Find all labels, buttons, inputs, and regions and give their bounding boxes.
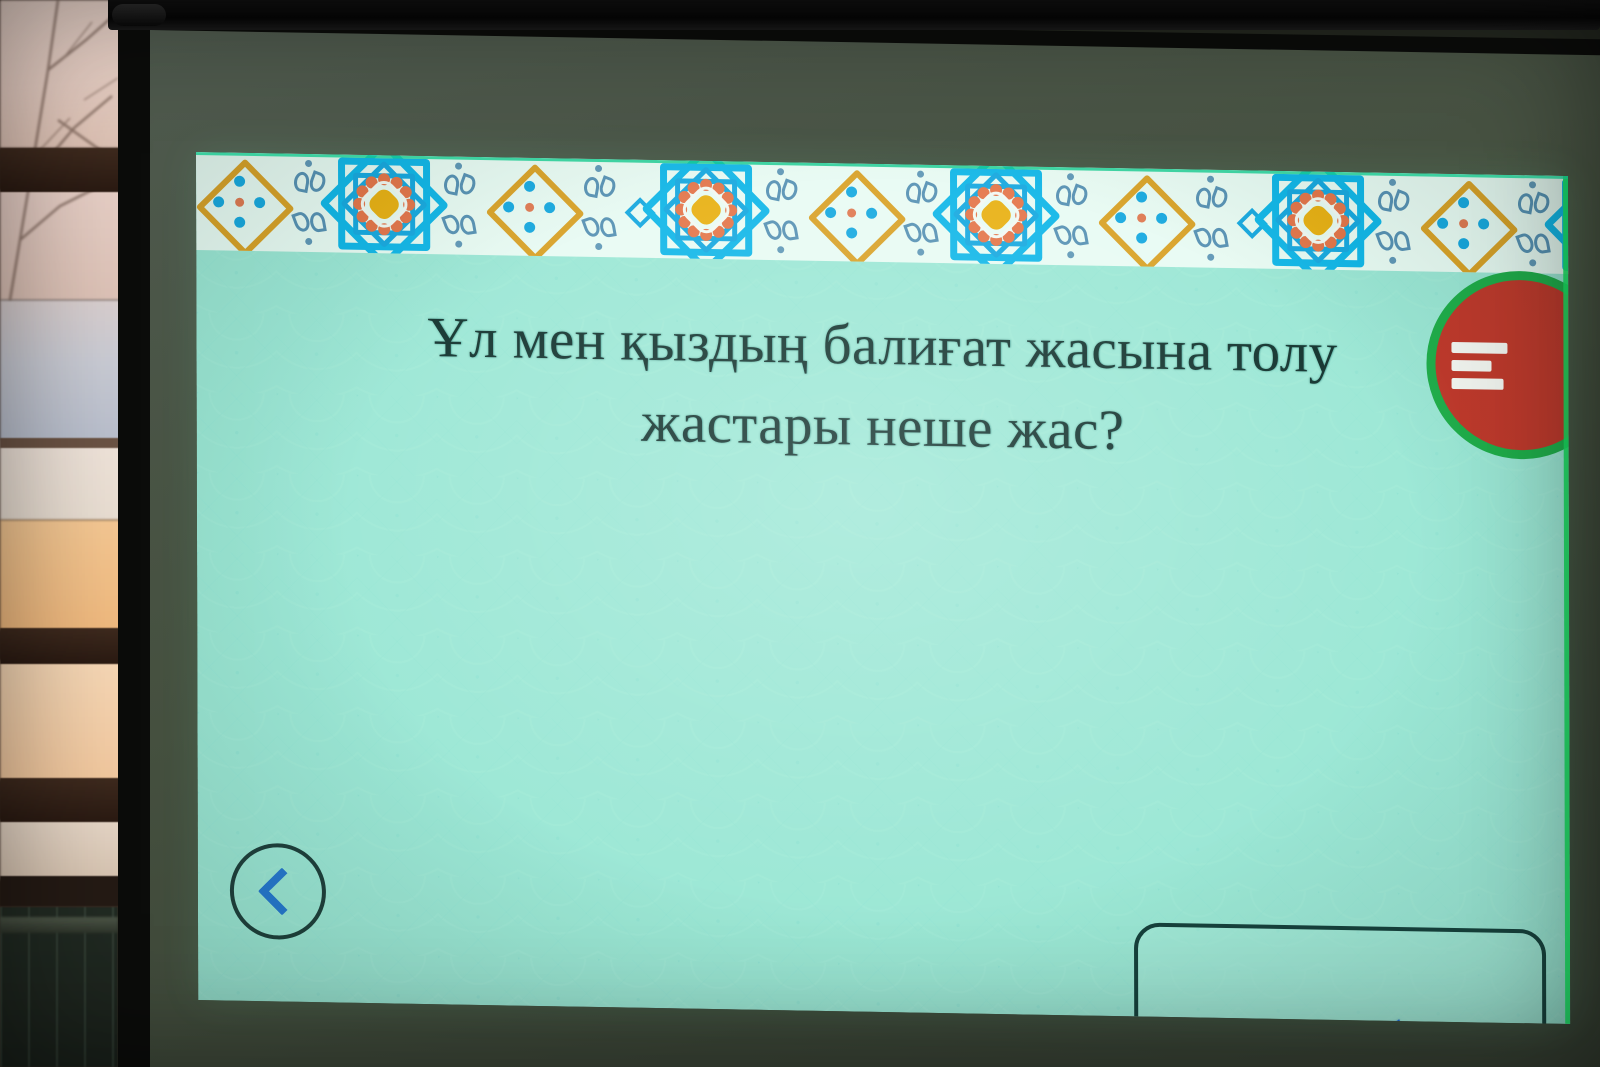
flourish-mark — [292, 171, 310, 193]
flourish-dot — [1389, 257, 1396, 264]
ornament-flourish — [1372, 173, 1414, 272]
flourish-mark — [1069, 183, 1090, 207]
flourish-dot — [1067, 251, 1074, 258]
slide-canvas: Ұл мен қыздың балиғат жасына толу жастар… — [196, 152, 1570, 1024]
ornament-star-motif — [1264, 171, 1372, 271]
flourish-mark — [764, 179, 782, 201]
ornament-flourish — [438, 156, 480, 255]
diamond-dot — [846, 227, 857, 238]
ornament-flourish — [760, 162, 802, 261]
ornament-flourish — [1050, 167, 1092, 266]
flourish-mark — [1531, 191, 1552, 215]
diamond-dot — [1458, 238, 1469, 249]
chevron-left-icon — [258, 867, 306, 915]
ornament-flourish — [1190, 169, 1232, 268]
ornament-star-motif — [942, 165, 1050, 265]
slide-background-pattern — [196, 152, 1570, 1024]
flourish-dot — [1529, 259, 1536, 266]
diamond-dot — [213, 196, 224, 207]
answer-card[interactable]: Жауабы — [1134, 922, 1546, 1024]
flourish-mark — [459, 214, 477, 236]
star-core — [366, 186, 403, 223]
ornament-diamond-motif — [802, 163, 900, 263]
diamond-dot — [234, 176, 245, 187]
flourish-mark — [1393, 230, 1411, 252]
diamond-dot — [1137, 213, 1146, 222]
flourish-mark — [763, 218, 784, 242]
projected-slide: Ұл мен қыздың балиғат жасына толу жастар… — [196, 152, 1570, 1024]
flourish-mark — [1515, 231, 1536, 255]
diamond-dot — [1156, 212, 1167, 223]
flourish-dot — [595, 165, 602, 172]
ornament-diamond-motif — [196, 152, 288, 252]
diamond-dot — [1136, 191, 1147, 202]
flourish-dot — [1207, 176, 1214, 183]
flourish-dot — [917, 249, 924, 256]
diamond-dot — [234, 217, 245, 228]
diamond-dot — [1478, 218, 1489, 229]
diamond-dot — [524, 181, 535, 192]
ornament-star-motif — [652, 160, 760, 260]
flourish-dot — [595, 243, 602, 250]
flourish-mark — [291, 210, 312, 234]
flourish-mark — [779, 178, 800, 202]
diamond-dot — [847, 208, 856, 217]
radiator — [0, 907, 118, 1067]
flourish-mark — [921, 222, 939, 244]
flourish-dot — [305, 238, 312, 245]
diamond-dot — [254, 197, 265, 208]
diamond-dot — [544, 202, 555, 213]
flourish-mark — [1053, 223, 1074, 247]
roller-knob — [112, 4, 166, 26]
ornament-star-motif — [330, 154, 438, 254]
flourish-mark — [1391, 189, 1412, 213]
diamond-dot — [1136, 232, 1147, 243]
projector-screen-roller — [108, 0, 1600, 30]
back-button[interactable] — [230, 843, 326, 941]
flourish-mark — [1194, 186, 1212, 208]
diamond-dot — [825, 206, 836, 217]
diamond-dot — [524, 222, 535, 233]
diamond-dot — [235, 197, 244, 206]
flourish-mark — [597, 175, 618, 199]
flourish-dot — [777, 246, 784, 253]
flourish-mark — [919, 181, 940, 205]
flourish-mark — [1211, 227, 1229, 249]
flourish-mark — [599, 216, 617, 238]
flourish-dot — [455, 163, 462, 170]
flourish-mark — [581, 215, 602, 239]
diamond-dot — [503, 201, 514, 212]
flourish-mark — [1516, 192, 1534, 214]
star-core — [688, 192, 725, 229]
flourish-mark — [903, 221, 924, 245]
flourish-dot — [1529, 181, 1536, 188]
flourish-dot — [455, 241, 462, 248]
flourish-dot — [777, 168, 784, 175]
photo-scene: Ұл мен қыздың балиғат жасына толу жастар… — [0, 0, 1600, 1067]
flourish-dot — [1067, 173, 1074, 180]
flourish-mark — [1375, 229, 1396, 253]
diamond-dot — [1437, 217, 1448, 228]
slide-title: Ұл мен қыздың балиғат жасына толу жастар… — [196, 294, 1568, 480]
flourish-mark — [781, 219, 799, 241]
flourish-dot — [917, 171, 924, 178]
diamond-dot — [1115, 212, 1126, 223]
diamond-dot — [846, 186, 857, 197]
flourish-mark — [1533, 232, 1551, 254]
flourish-mark — [1193, 226, 1214, 250]
flourish-mark — [1376, 190, 1394, 212]
diamond-dot — [525, 202, 534, 211]
flourish-mark — [1209, 186, 1230, 210]
ornament-diamond-motif — [480, 157, 578, 257]
ornament-flourish — [578, 159, 620, 258]
ornament-diamond-motif — [1092, 168, 1190, 268]
diamond-dot — [866, 207, 877, 218]
flourish-mark — [441, 213, 462, 237]
flourish-mark — [307, 170, 328, 194]
flourish-mark — [904, 181, 922, 203]
diamond-dot — [1458, 197, 1469, 208]
flourish-dot — [1207, 254, 1214, 261]
flourish-dot — [305, 160, 312, 167]
star-core — [978, 197, 1015, 234]
flourish-dot — [1389, 179, 1396, 186]
diamond-dot — [1459, 219, 1468, 228]
flourish-mark — [1054, 184, 1072, 206]
flourish-mark — [457, 173, 478, 197]
flourish-mark — [1071, 224, 1089, 246]
flourish-mark — [582, 176, 600, 198]
star-core — [1300, 202, 1337, 239]
flourish-mark — [309, 211, 327, 233]
flourish-mark — [442, 173, 460, 195]
ornament-diamond-motif — [1414, 173, 1512, 273]
